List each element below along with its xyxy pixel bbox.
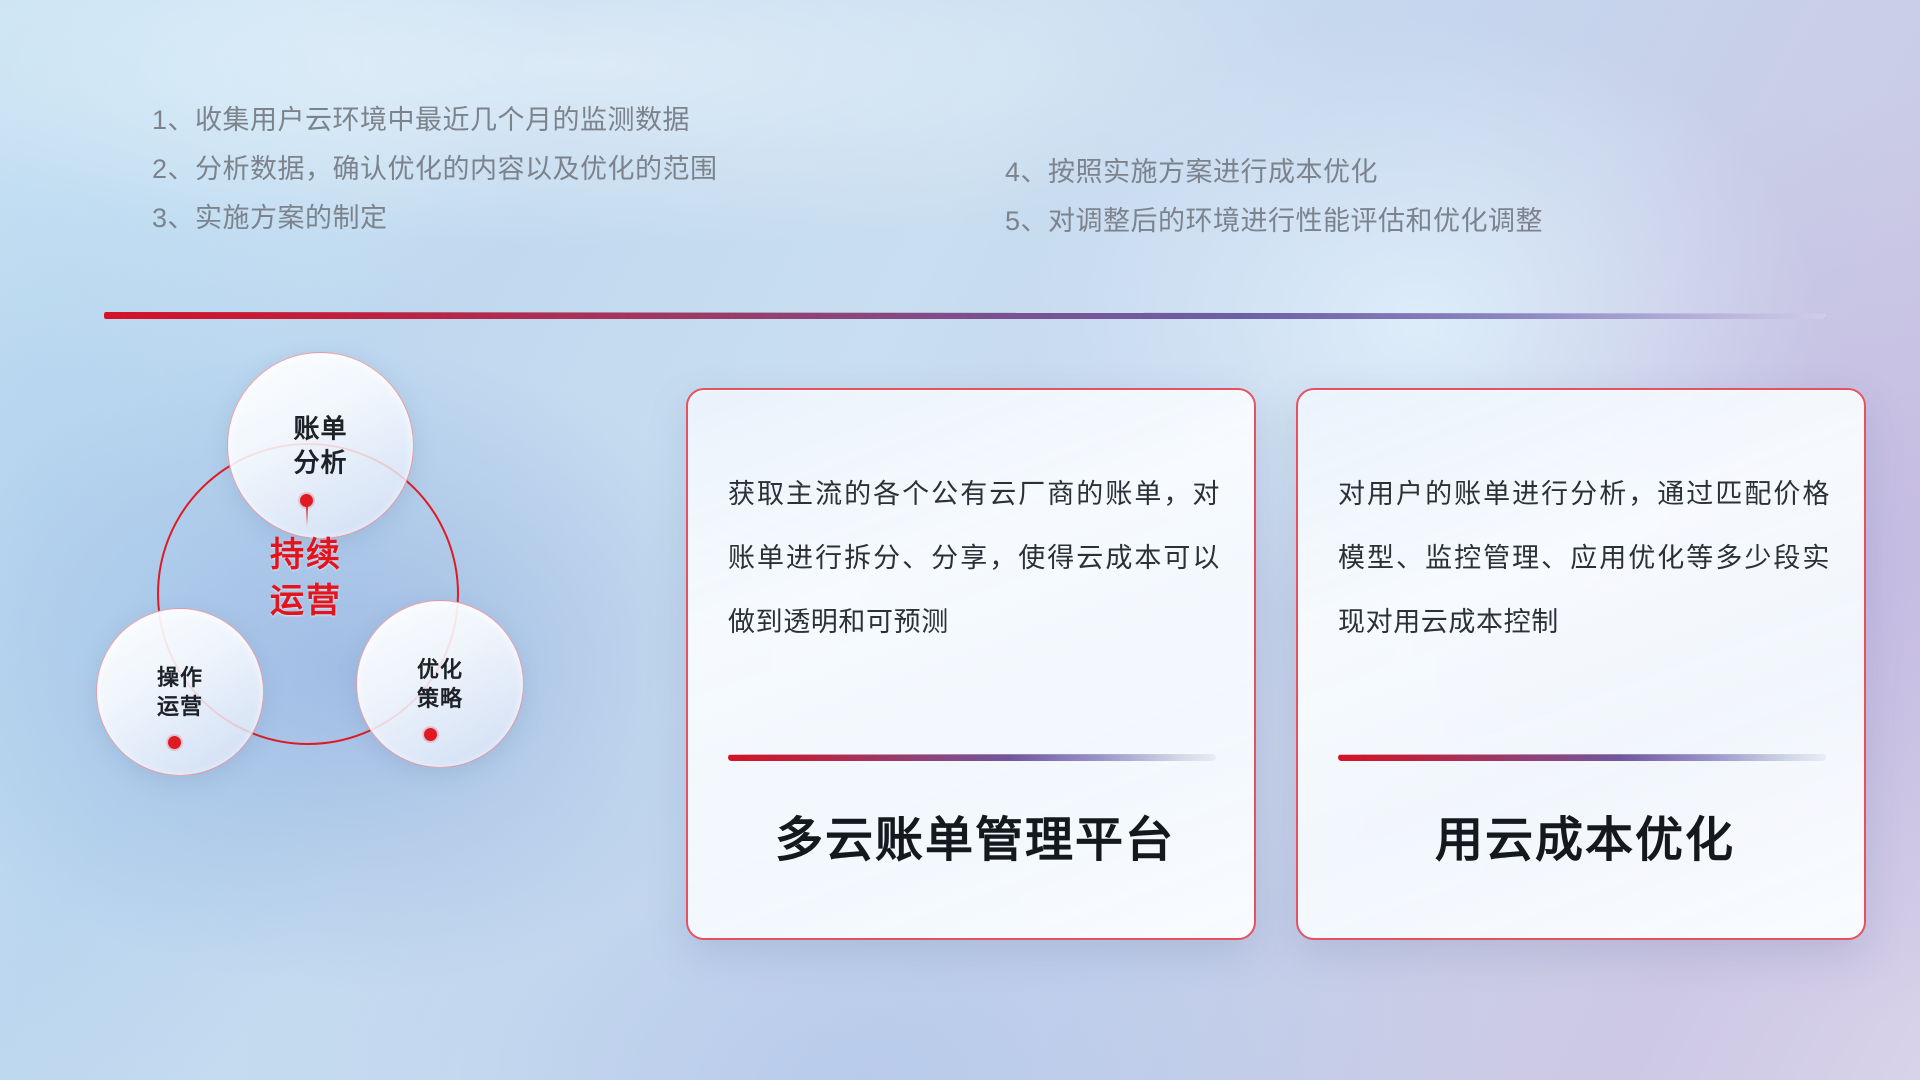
header-divider-rule: [104, 312, 1826, 319]
lobe-label: 操作 运营: [97, 663, 263, 721]
lobe-label: 优化 策略: [357, 655, 523, 713]
steps-list-left: 1、收集用户云环境中最近几个月的监测数据 2、分析数据，确认优化的内容以及优化的…: [152, 96, 718, 243]
step-item: 1、收集用户云环境中最近几个月的监测数据: [152, 96, 718, 145]
continuous-operations-diagram: 账单 分析 操作 运营 优化 策略 持续 运营: [96, 352, 566, 942]
card-divider-rule: [728, 754, 1216, 761]
card-title: 用云成本优化: [1336, 800, 1834, 870]
steps-list-right: 4、按照实施方案进行成本优化 5、对调整后的环境进行性能评估和优化调整: [1005, 148, 1543, 246]
card-cloud-cost-optimization[interactable]: 对用户的账单进行分析，通过匹配价格模型、监控管理、应用优化等多少段实现对用云成本…: [1296, 388, 1866, 940]
node-dot-bottom-left: [168, 736, 181, 749]
node-dot-bottom-right: [424, 728, 437, 741]
diagram-center-label: 持续 运营: [206, 532, 406, 624]
lobe-optimization-strategy[interactable]: 优化 策略: [356, 600, 524, 768]
step-item: 3、实施方案的制定: [152, 194, 718, 243]
lobe-label: 账单 分析: [228, 411, 413, 480]
step-item: 5、对调整后的环境进行性能评估和优化调整: [1005, 197, 1543, 246]
card-body-text: 对用户的账单进行分析，通过匹配价格模型、监控管理、应用优化等多少段实现对用云成本…: [1338, 462, 1830, 654]
connector-stem: [306, 504, 308, 526]
card-body-text: 获取主流的各个公有云厂商的账单，对账单进行拆分、分享，使得云成本可以做到透明和可…: [728, 462, 1220, 654]
card-divider-rule: [1338, 754, 1826, 761]
card-multicloud-billing[interactable]: 获取主流的各个公有云厂商的账单，对账单进行拆分、分享，使得云成本可以做到透明和可…: [686, 388, 1256, 940]
node-dot-top: [300, 494, 313, 507]
lobe-bill-analysis[interactable]: 账单 分析: [227, 352, 414, 539]
lobe-operations[interactable]: 操作 运营: [96, 608, 264, 776]
step-item: 4、按照实施方案进行成本优化: [1005, 148, 1543, 197]
card-title: 多云账单管理平台: [726, 800, 1224, 870]
slide-canvas: 1、收集用户云环境中最近几个月的监测数据 2、分析数据，确认优化的内容以及优化的…: [0, 0, 1920, 1080]
step-item: 2、分析数据，确认优化的内容以及优化的范围: [152, 145, 718, 194]
